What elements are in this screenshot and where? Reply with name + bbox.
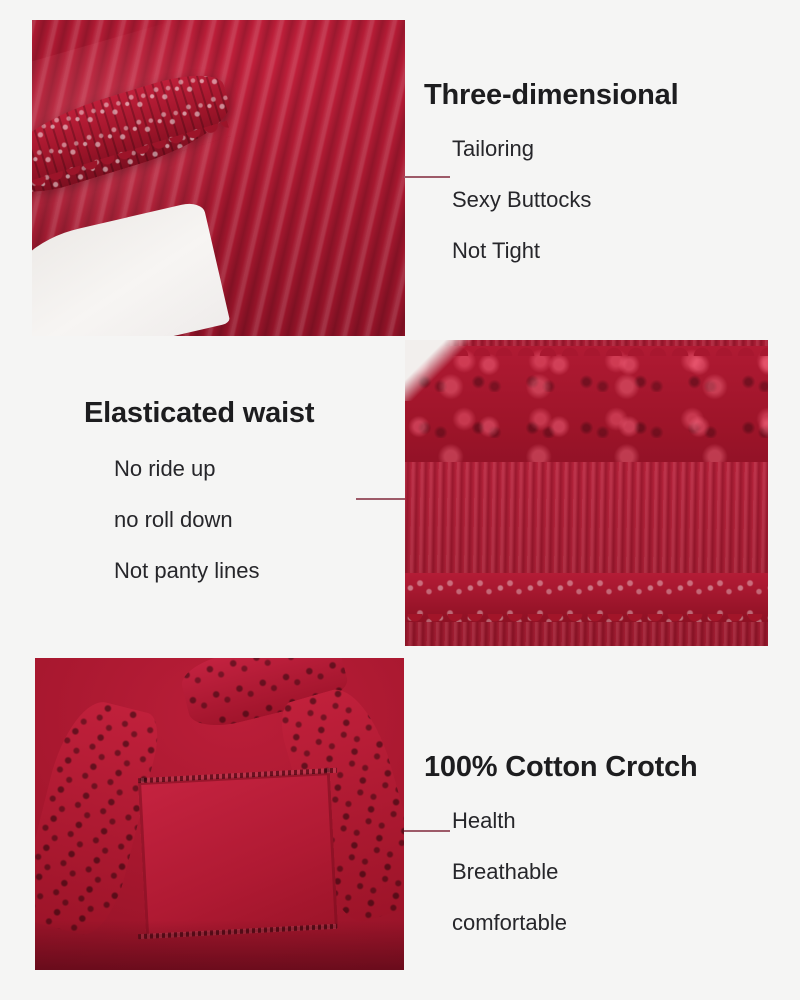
feature-bullets-cotton-crotch: Health Breathable comfortable [452,810,698,934]
list-item: Health [452,810,698,832]
connector-line-elasticated-waist [356,498,406,500]
feature-bullets-three-dimensional: Tailoring Sexy Buttocks Not Tight [452,138,678,262]
backdrop-corner-fade [405,340,485,401]
feature-text-cotton-crotch: 100% Cotton Crotch Health Breathable com… [424,752,698,963]
bottom-shadow [35,920,404,970]
feature-text-elasticated-waist: Elasticated waist No ride up no roll dow… [84,398,314,611]
feature-bullets-elasticated-waist: No ride up no roll down Not panty lines [114,458,314,582]
feature-image-three-dimensional [32,20,405,336]
list-item: Breathable [452,861,698,883]
cotton-crotch-panel [138,772,338,938]
lace-scallop-bottom-edge [405,614,768,628]
feature-title-elasticated-waist: Elasticated waist [84,398,314,428]
feature-text-three-dimensional: Three-dimensional Tailoring Sexy Buttock… [424,80,678,291]
list-item: No ride up [114,458,314,480]
feature-title-three-dimensional: Three-dimensional [424,80,678,110]
list-item: Sexy Buttocks [452,189,678,211]
feature-image-elasticated-waist [405,340,768,646]
list-item: Not Tight [452,240,678,262]
list-item: comfortable [452,912,698,934]
list-item: Tailoring [452,138,678,160]
list-item: no roll down [114,509,314,531]
product-infographic: Three-dimensional Tailoring Sexy Buttock… [0,0,800,1000]
list-item: Not panty lines [114,560,314,582]
feature-image-cotton-crotch [35,658,404,970]
feature-title-cotton-crotch: 100% Cotton Crotch [424,752,698,782]
